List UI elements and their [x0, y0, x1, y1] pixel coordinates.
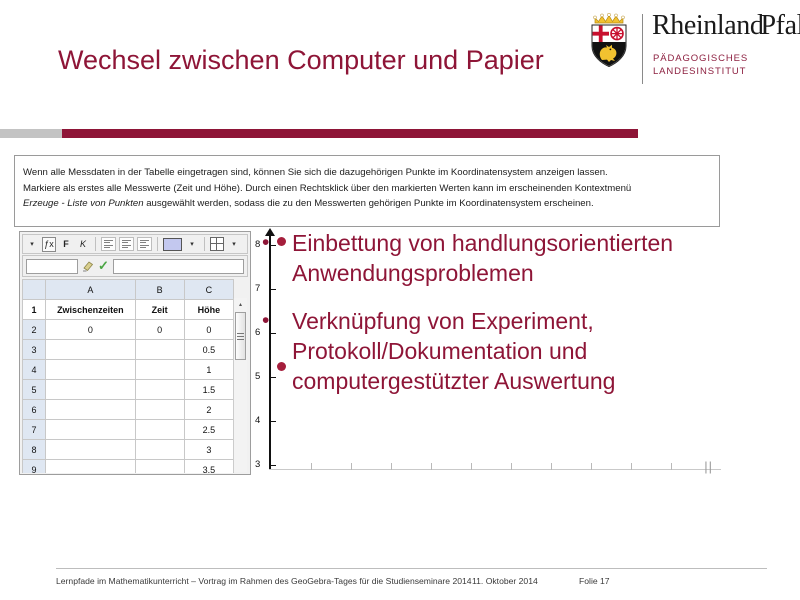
- bullet-marker-icon: •: [262, 306, 292, 336]
- bullet-list: • Einbettung von handlungsorientierten A…: [262, 228, 762, 414]
- cell-c2[interactable]: 0: [184, 320, 233, 340]
- x-axis-tick: [671, 463, 672, 470]
- instruction-line-2: Markiere als erstes alle Messwerte (Zeit…: [23, 181, 631, 197]
- row-header[interactable]: 9: [23, 460, 46, 474]
- x-axis-tick: [551, 463, 552, 470]
- x-axis-tick: [591, 463, 592, 470]
- instruction-line-1: Wenn alle Messdaten in der Tabelle einge…: [23, 165, 631, 181]
- cell-reference-input[interactable]: [26, 259, 78, 274]
- table-row: 1 Zwischenzeiten Zeit Höhe: [23, 300, 234, 320]
- divider-accent-segment: [62, 129, 638, 138]
- instruction-text: Wenn alle Messdaten in der Tabelle einge…: [23, 165, 631, 212]
- cell-b9[interactable]: [135, 460, 184, 474]
- borders-icon[interactable]: [210, 237, 224, 251]
- divider-gray-segment: [0, 129, 62, 138]
- y-axis-label-5: 5: [255, 371, 260, 382]
- cell-b5[interactable]: [135, 380, 184, 400]
- cell-c8[interactable]: 3: [184, 440, 233, 460]
- footer-divider: [56, 568, 767, 569]
- bullet-text: Verknüpfung von Experiment, Protokoll/Do…: [292, 306, 762, 396]
- align-left-icon[interactable]: [101, 237, 116, 251]
- footer-presentation-title: Lernpfade im Mathematikunterricht – Vort…: [56, 576, 472, 586]
- table-row: 6 2: [23, 400, 234, 420]
- cell-a8[interactable]: [46, 440, 135, 460]
- formula-input[interactable]: [113, 259, 244, 274]
- instruction-menu-command: Erzeuge - Liste von Punkten: [23, 198, 144, 209]
- y-axis-tick: [271, 421, 276, 422]
- geogebra-spreadsheet-panel: ▾ ƒx F K ▾ ▾ ✓: [19, 231, 251, 475]
- y-axis-label-3: 3: [255, 459, 260, 470]
- borders-chevron-down-icon[interactable]: ▾: [227, 237, 241, 252]
- spreadsheet-grid[interactable]: A B C 1 Zwischenzeiten Zeit Höhe 2 0: [22, 279, 248, 473]
- spreadsheet-column-header-row: A B C: [23, 280, 234, 300]
- align-right-icon[interactable]: [137, 237, 152, 251]
- toolbar-separator: [204, 237, 205, 251]
- cell-a4[interactable]: [46, 360, 135, 380]
- cell-b3[interactable]: [135, 340, 184, 360]
- toolbar-separator: [157, 237, 158, 251]
- cell-c7[interactable]: 2.5: [184, 420, 233, 440]
- list-item: • Einbettung von handlungsorientierten A…: [262, 228, 762, 288]
- row-header[interactable]: 1: [23, 300, 46, 320]
- table-row: 7 2.5: [23, 420, 234, 440]
- cell-a1[interactable]: Zwischenzeiten: [46, 300, 135, 320]
- row-header[interactable]: 8: [23, 440, 46, 460]
- cell-c6[interactable]: 2: [184, 400, 233, 420]
- table-row: 3 0.5: [23, 340, 234, 360]
- formula-fx-button[interactable]: ƒx: [42, 237, 56, 252]
- rhineland-palatinate-coat-of-arms-icon: [586, 12, 632, 68]
- cell-a5[interactable]: [46, 380, 135, 400]
- logo-subtitle-line1: PÄDAGOGISCHES: [653, 52, 748, 65]
- table-row: 2 0 0 0: [23, 320, 234, 340]
- logo-wordmark-pfalz: Pfalz: [761, 10, 800, 41]
- x-axis: [269, 469, 721, 470]
- y-axis-label-6: 6: [255, 327, 260, 338]
- cell-b8[interactable]: [135, 440, 184, 460]
- scroll-up-arrow-icon[interactable]: ▴: [234, 298, 247, 310]
- x-axis-tick: [471, 463, 472, 470]
- row-header[interactable]: 5: [23, 380, 46, 400]
- cell-b1[interactable]: Zeit: [135, 300, 184, 320]
- cell-c1[interactable]: Höhe: [184, 300, 233, 320]
- row-header[interactable]: 7: [23, 420, 46, 440]
- cell-a9[interactable]: [46, 460, 135, 474]
- cell-c4[interactable]: 1: [184, 360, 233, 380]
- cell-a3[interactable]: [46, 340, 135, 360]
- list-item: • Verknüpfung von Experiment, Protokoll/…: [262, 306, 762, 396]
- logo-divider: [642, 14, 643, 84]
- bold-button[interactable]: F: [59, 237, 73, 252]
- fill-color-chevron-down-icon[interactable]: ▾: [185, 237, 199, 252]
- cell-c3[interactable]: 0.5: [184, 340, 233, 360]
- instruction-line-3-rest: ausgewählt werden, sodass die zu den Mes…: [144, 198, 594, 209]
- page-title: Wechsel zwischen Computer und Papier: [58, 42, 578, 79]
- cell-a2[interactable]: 0: [46, 320, 135, 340]
- institution-logo: RheinlandPfalz PÄDAGOGISCHES LANDESINSTI…: [586, 12, 791, 88]
- title-divider: [0, 129, 800, 138]
- y-axis-label-4: 4: [255, 415, 260, 426]
- row-header[interactable]: 4: [23, 360, 46, 380]
- cell-b4[interactable]: [135, 360, 184, 380]
- logo-wordmark-rheinland: Rheinland: [652, 10, 764, 41]
- eraser-icon[interactable]: [82, 260, 94, 272]
- fill-color-swatch[interactable]: [163, 238, 182, 251]
- spreadsheet-toolbar: ▾ ƒx F K ▾ ▾: [22, 234, 248, 254]
- select-all-corner[interactable]: [23, 280, 46, 300]
- row-header[interactable]: 6: [23, 400, 46, 420]
- x-axis-tick: [631, 463, 632, 470]
- row-header[interactable]: 2: [23, 320, 46, 340]
- logo-wordmark: RheinlandPfalz: [652, 10, 800, 42]
- cell-b6[interactable]: [135, 400, 184, 420]
- toolbar-overflow-chevron-icon[interactable]: ▾: [25, 237, 39, 252]
- axis-break-marks: ||: [704, 459, 713, 474]
- footer-slide-number: Folie 17: [579, 576, 610, 586]
- table-row: 5 1.5: [23, 380, 234, 400]
- table-row: 8 3: [23, 440, 234, 460]
- table-row: 9 3.5: [23, 460, 234, 474]
- cell-a6[interactable]: [46, 400, 135, 420]
- y-axis-label-8: 8: [255, 239, 260, 250]
- footer: Lernpfade im Mathematikunterricht – Vort…: [56, 575, 768, 591]
- column-header-b[interactable]: B: [135, 280, 184, 300]
- column-header-a[interactable]: A: [46, 280, 135, 300]
- y-axis-tick: [271, 465, 276, 466]
- bullet-marker-icon: •: [262, 228, 292, 258]
- x-axis-tick: [311, 463, 312, 470]
- row-header[interactable]: 3: [23, 340, 46, 360]
- spreadsheet-table: A B C 1 Zwischenzeiten Zeit Höhe 2 0: [22, 279, 234, 473]
- spreadsheet-vertical-scrollbar[interactable]: ▴: [233, 298, 247, 472]
- toolbar-separator: [95, 237, 96, 251]
- logo-subtitle-line2: LANDESINSTITUT: [653, 65, 748, 78]
- italic-button[interactable]: K: [76, 237, 90, 252]
- x-axis-tick: [351, 463, 352, 470]
- x-axis-tick: [391, 463, 392, 470]
- confirm-check-icon[interactable]: ✓: [98, 260, 109, 272]
- cell-b2[interactable]: 0: [135, 320, 184, 340]
- logo-subtitle: PÄDAGOGISCHES LANDESINSTITUT: [653, 52, 748, 78]
- bullet-text: Einbettung von handlungsorientierten Anw…: [292, 228, 762, 288]
- cell-c9[interactable]: 3.5: [184, 460, 233, 474]
- column-header-c[interactable]: C: [184, 280, 233, 300]
- cell-a7[interactable]: [46, 420, 135, 440]
- table-row: 4 1: [23, 360, 234, 380]
- footer-date: 11. Oktober 2014: [472, 576, 538, 586]
- x-axis-tick: [431, 463, 432, 470]
- cell-b7[interactable]: [135, 420, 184, 440]
- y-axis-label-7: 7: [255, 283, 260, 294]
- formula-bar: ✓: [22, 255, 248, 277]
- x-axis-tick: [511, 463, 512, 470]
- cell-c5[interactable]: 1.5: [184, 380, 233, 400]
- scrollbar-thumb[interactable]: [235, 312, 246, 360]
- instruction-line-3: Erzeuge - Liste von Punkten ausgewählt w…: [23, 196, 631, 212]
- align-center-icon[interactable]: [119, 237, 134, 251]
- instruction-textbox: Wenn alle Messdaten in der Tabelle einge…: [14, 155, 720, 227]
